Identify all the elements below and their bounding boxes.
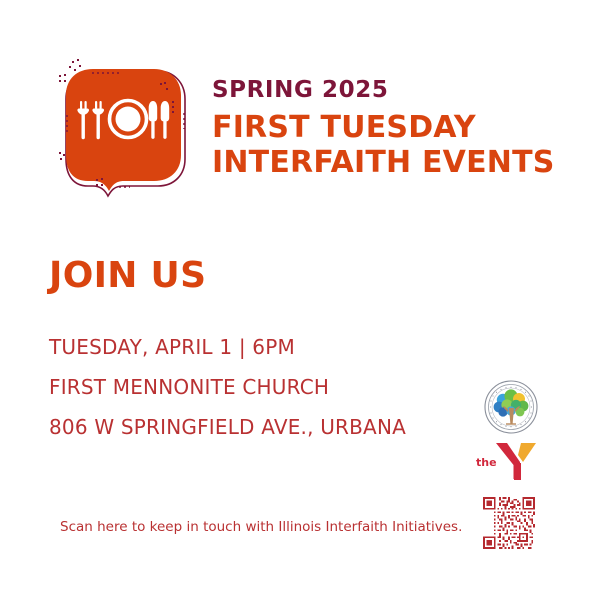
event-title-line-2: INTERFAITH EVENTS: [212, 145, 572, 180]
event-flyer: SPRING 2025 FIRST TUESDAY INTERFAITH EVE…: [0, 0, 600, 600]
detail-address: 806 W SPRINGFIELD AVE., URBANA: [49, 417, 469, 437]
detail-venue: FIRST MENNONITE CHURCH: [49, 377, 469, 397]
header-text-block: SPRING 2025 FIRST TUESDAY INTERFAITH EVE…: [212, 78, 572, 180]
join-us-heading: JOIN US: [49, 258, 206, 294]
season-kicker: SPRING 2025: [212, 78, 572, 103]
ymca-logo: the: [474, 435, 548, 485]
ymca-chevron-right: [518, 443, 536, 462]
interfaith-meal-logo: [48, 55, 198, 200]
ymca-chevron-stem: [514, 463, 521, 480]
event-title-line-1: FIRST TUESDAY: [212, 110, 572, 145]
event-title: FIRST TUESDAY INTERFAITH EVENTS: [212, 110, 572, 180]
detail-date-time: TUESDAY, APRIL 1 | 6PM: [49, 337, 469, 357]
scan-caption: Scan here to keep in touch with Illinois…: [60, 521, 462, 535]
event-details-list: TUESDAY, APRIL 1 | 6PM FIRST MENNONITE C…: [49, 337, 469, 437]
interfaith-seal-logo: [478, 378, 544, 436]
sponsor-logo-stack: the: [474, 378, 550, 549]
qr-code[interactable]: [480, 497, 538, 549]
ymca-the-label: the: [476, 456, 497, 469]
